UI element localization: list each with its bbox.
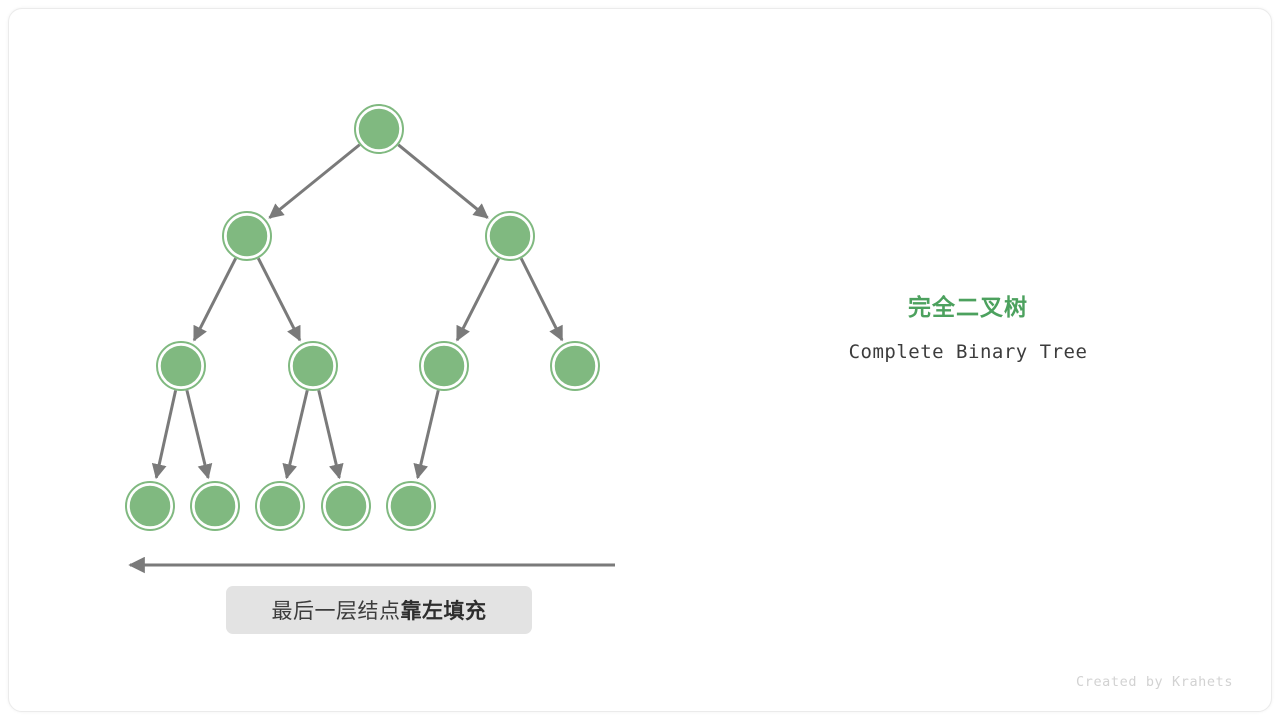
tree-node	[322, 482, 370, 530]
tree-edge	[319, 390, 340, 477]
tree-node	[126, 482, 174, 530]
tree-node-fill	[423, 345, 465, 387]
edge-layer	[156, 145, 562, 478]
tree-edge	[418, 390, 439, 477]
tree-node	[256, 482, 304, 530]
tree-node-fill	[194, 485, 236, 527]
caption-text-bold: 靠左填充	[401, 600, 487, 623]
tree-edge	[457, 258, 499, 340]
tree-edge	[187, 390, 208, 478]
tree-node-fill	[489, 215, 531, 257]
caption-pill: 最后一层结点靠左填充	[226, 586, 532, 634]
watermark: Created by Krahets	[1076, 674, 1233, 690]
tree-node-fill	[160, 345, 202, 387]
legend-block: 完全二叉树 Complete Binary Tree	[768, 292, 1168, 365]
caption-text-normal: 最后一层结点	[272, 600, 401, 623]
tree-node	[420, 342, 468, 390]
tree-edge	[258, 258, 300, 340]
tree-node-fill	[358, 108, 400, 150]
legend-title: 完全二叉树	[768, 292, 1168, 322]
tree-edge	[287, 390, 308, 477]
tree-node-fill	[325, 485, 367, 527]
tree-edge	[270, 145, 360, 218]
tree-edge	[398, 145, 487, 218]
tree-node	[486, 212, 534, 260]
tree-node-fill	[554, 345, 596, 387]
tree-edge	[194, 258, 236, 340]
caption-text: 最后一层结点靠左填充	[272, 595, 487, 625]
tree-node	[157, 342, 205, 390]
tree-node	[551, 342, 599, 390]
tree-edge	[156, 390, 175, 477]
tree-node	[355, 105, 403, 153]
tree-node	[387, 482, 435, 530]
tree-edge	[521, 258, 562, 340]
tree-node	[223, 212, 271, 260]
diagram-canvas: 完全二叉树 Complete Binary Tree 最后一层结点靠左填充 Cr…	[0, 0, 1280, 720]
tree-node-fill	[129, 485, 171, 527]
legend-subtitle: Complete Binary Tree	[768, 339, 1168, 365]
node-layer	[126, 105, 599, 530]
tree-node	[191, 482, 239, 530]
tree-node-fill	[259, 485, 301, 527]
tree-node-fill	[390, 485, 432, 527]
tree-node-fill	[292, 345, 334, 387]
tree-node	[289, 342, 337, 390]
tree-node-fill	[226, 215, 268, 257]
